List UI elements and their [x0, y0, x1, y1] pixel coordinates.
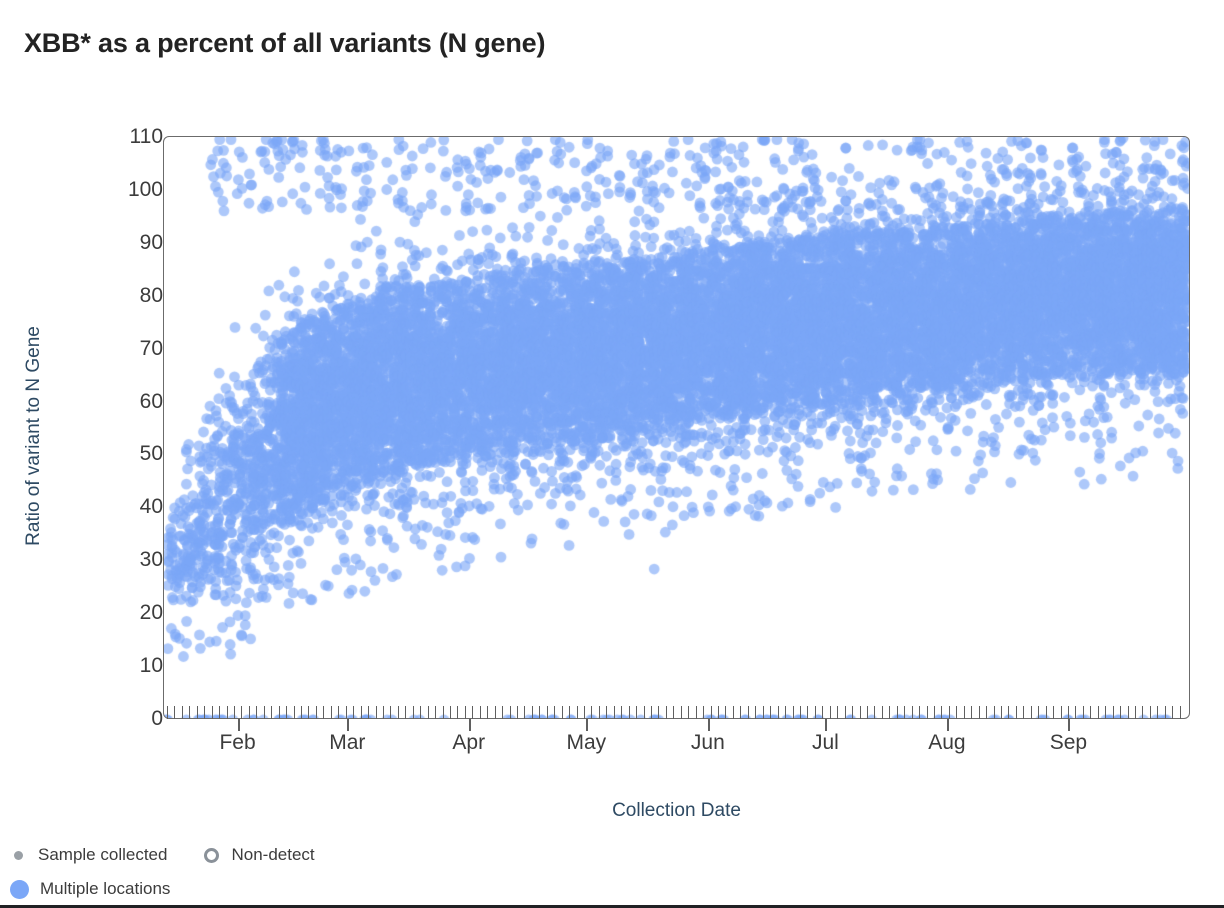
x-tick-label: Aug: [928, 731, 965, 755]
x-major-tick: [238, 719, 240, 731]
legend: Sample collected Non-detect Multiple loc…: [10, 838, 610, 906]
x-major-tick: [825, 719, 827, 731]
x-tick-label: Jul: [812, 731, 839, 755]
legend-label-non-detect: Non-detect: [231, 845, 314, 865]
x-tick-label: Mar: [329, 731, 365, 755]
x-tick-label: Feb: [219, 731, 255, 755]
y-tick-label: 20: [17, 601, 163, 625]
y-axis-title: Ratio of variant to N Gene: [23, 306, 45, 566]
x-axis-title: Collection Date: [163, 800, 1190, 822]
legend-row-2: Multiple locations: [10, 872, 610, 906]
plot-area: [163, 136, 1190, 719]
y-tick-label: 0: [17, 707, 163, 731]
scatter-plot-canvas: [164, 137, 1190, 719]
x-axis: FebMarAprMayJunJulAugSep: [163, 731, 1190, 761]
x-major-tick: [347, 719, 349, 731]
legend-label-sample-collected: Sample collected: [38, 845, 167, 865]
legend-label-multiple-locations: Multiple locations: [40, 879, 170, 899]
x-tick-label: Apr: [452, 731, 485, 755]
y-tick-label: 100: [17, 178, 163, 202]
non-detect-ring-icon: [204, 848, 219, 863]
x-tick-label: Jun: [691, 731, 725, 755]
page-title: XBB* as a percent of all variants (N gen…: [24, 28, 545, 59]
x-tick-label: May: [567, 731, 607, 755]
y-tick-label: 10: [17, 654, 163, 678]
legend-item-sample-collected[interactable]: Sample collected: [10, 845, 167, 865]
sample-collected-dot-icon: [14, 851, 23, 860]
x-tick-label: Sep: [1050, 731, 1087, 755]
y-tick-label: 80: [17, 284, 163, 308]
legend-item-multiple-locations[interactable]: Multiple locations: [10, 879, 170, 899]
x-major-tick: [1068, 719, 1070, 731]
x-major-tick: [947, 719, 949, 731]
y-tick-label: 110: [17, 125, 163, 149]
x-major-tick: [586, 719, 588, 731]
legend-row-1: Sample collected Non-detect: [10, 838, 610, 872]
chart-page: XBB* as a percent of all variants (N gen…: [0, 0, 1224, 908]
legend-item-non-detect[interactable]: Non-detect: [203, 845, 314, 865]
x-axis-major-ticks: [163, 719, 1190, 731]
x-major-tick: [469, 719, 471, 731]
x-major-tick: [708, 719, 710, 731]
multiple-locations-dot-icon: [10, 880, 29, 899]
y-tick-label: 90: [17, 231, 163, 255]
